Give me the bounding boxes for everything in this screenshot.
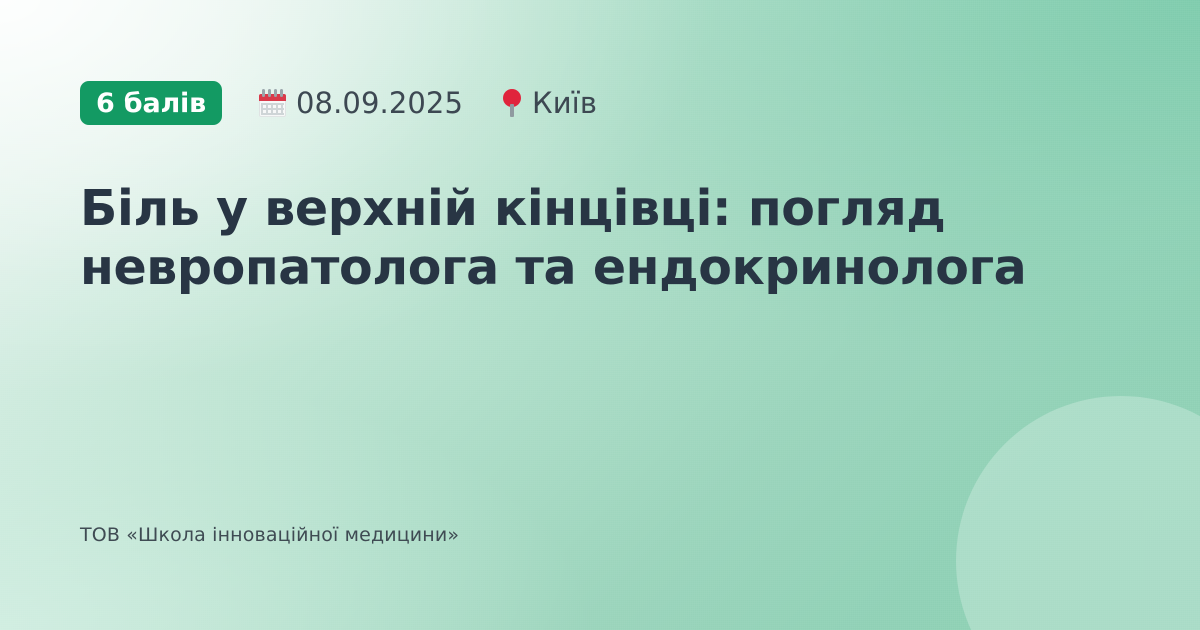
meta-row: 6 балів 08.09.2025 Київ [80, 80, 597, 126]
calendar-icon [258, 89, 287, 118]
card-content: 6 балів 08.09.2025 Київ [0, 0, 1200, 630]
page-title: Біль у верхній кінцівці: погляд невропат… [80, 180, 1060, 298]
organization-name: ТОВ «Школа інноваційної медицини» [80, 526, 459, 545]
page-title-line-1: Біль у верхній кінцівці: погляд [80, 180, 1060, 239]
event-date: 08.09.2025 [258, 89, 463, 118]
page-title-line-2: невропатолога та ендокринолога [80, 239, 1060, 298]
event-promo-card: 6 балів 08.09.2025 Київ [0, 0, 1200, 630]
event-date-text: 08.09.2025 [296, 89, 463, 118]
event-location: Київ [501, 88, 597, 118]
score-badge: 6 балів [80, 81, 222, 125]
event-location-text: Київ [532, 89, 597, 118]
map-pin-icon [501, 88, 523, 118]
